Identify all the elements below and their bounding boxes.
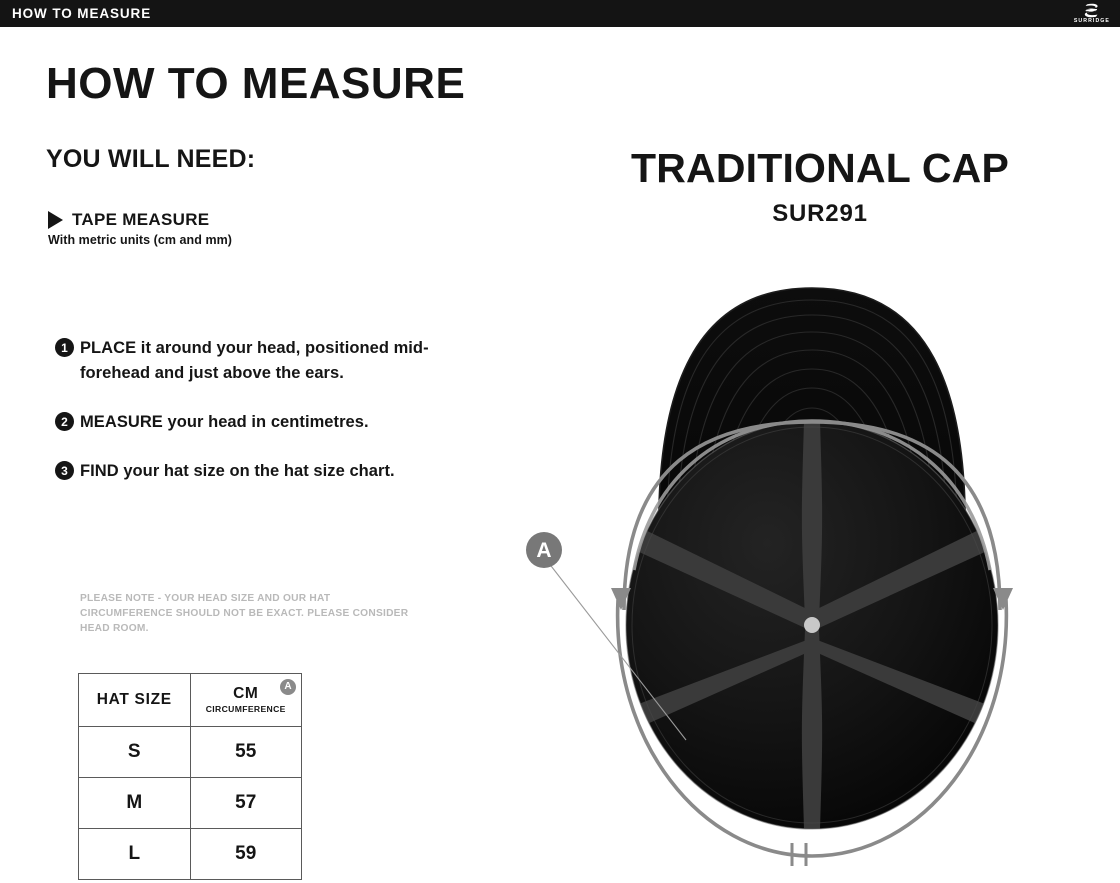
step-item: 3 FIND your hat size on the hat size cha… xyxy=(55,459,455,484)
product-title: TRADITIONAL CAP xyxy=(520,148,1120,189)
crown-center-button xyxy=(804,617,820,633)
cell-hat-size: S xyxy=(79,727,191,778)
hat-size-table: HAT SIZE CM CIRCUMFERENCE A S 55 M 57 L … xyxy=(78,673,302,880)
table-header-cm: CM CIRCUMFERENCE A xyxy=(190,674,302,727)
callout-badge-a: A xyxy=(526,532,562,568)
cell-cm: 57 xyxy=(190,778,302,829)
measurement-badge-a: A xyxy=(280,679,296,695)
product-code: SUR291 xyxy=(520,202,1120,226)
tool-name: TAPE MEASURE xyxy=(72,210,209,230)
brand-logo: SURRIDGE xyxy=(1074,3,1110,24)
step-number-badge: 1 xyxy=(55,338,74,357)
cell-hat-size: M xyxy=(79,778,191,829)
page-title: HOW TO MEASURE xyxy=(46,62,465,106)
cell-cm: 55 xyxy=(190,727,302,778)
tool-header: TAPE MEASURE xyxy=(48,210,468,230)
steps-list: 1 PLACE it around your head, positioned … xyxy=(55,336,455,484)
table-header-circumference-label: CIRCUMFERENCE xyxy=(191,704,302,714)
table-row: L 59 xyxy=(79,829,302,880)
step-number-badge: 3 xyxy=(55,461,74,480)
table-header-hat-size: HAT SIZE xyxy=(79,674,191,727)
tool-subtitle: With metric units (cm and mm) xyxy=(48,233,468,247)
cap-diagram xyxy=(500,270,1120,883)
triangle-play-icon xyxy=(48,211,63,229)
you-will-need-heading: YOU WILL NEED: xyxy=(46,147,255,172)
cell-hat-size: L xyxy=(79,829,191,880)
table-header-hat-size-label: HAT SIZE xyxy=(97,691,172,708)
step-text: FIND your hat size on the hat size chart… xyxy=(80,459,395,484)
top-bar-title: HOW TO MEASURE xyxy=(12,7,151,21)
tool-tape-measure: TAPE MEASURE With metric units (cm and m… xyxy=(48,210,468,247)
brand-name: SURRIDGE xyxy=(1074,19,1110,24)
cell-cm: 59 xyxy=(190,829,302,880)
table-header-row: HAT SIZE CM CIRCUMFERENCE A xyxy=(79,674,302,727)
step-number-badge: 2 xyxy=(55,412,74,431)
surridge-s-logo-icon xyxy=(1084,3,1100,18)
cap-top-view-illustration xyxy=(500,270,1120,883)
disclaimer-note: PLEASE NOTE - YOUR HEAD SIZE AND OUR HAT… xyxy=(80,592,410,637)
step-item: 2 MEASURE your head in centimetres. xyxy=(55,410,455,435)
cap-crown xyxy=(623,421,1001,829)
step-text: PLACE it around your head, positioned mi… xyxy=(80,336,455,386)
table-row: S 55 xyxy=(79,727,302,778)
step-item: 1 PLACE it around your head, positioned … xyxy=(55,336,455,386)
step-text: MEASURE your head in centimetres. xyxy=(80,410,369,435)
table-row: M 57 xyxy=(79,778,302,829)
top-bar: HOW TO MEASURE SURRIDGE xyxy=(0,0,1120,27)
